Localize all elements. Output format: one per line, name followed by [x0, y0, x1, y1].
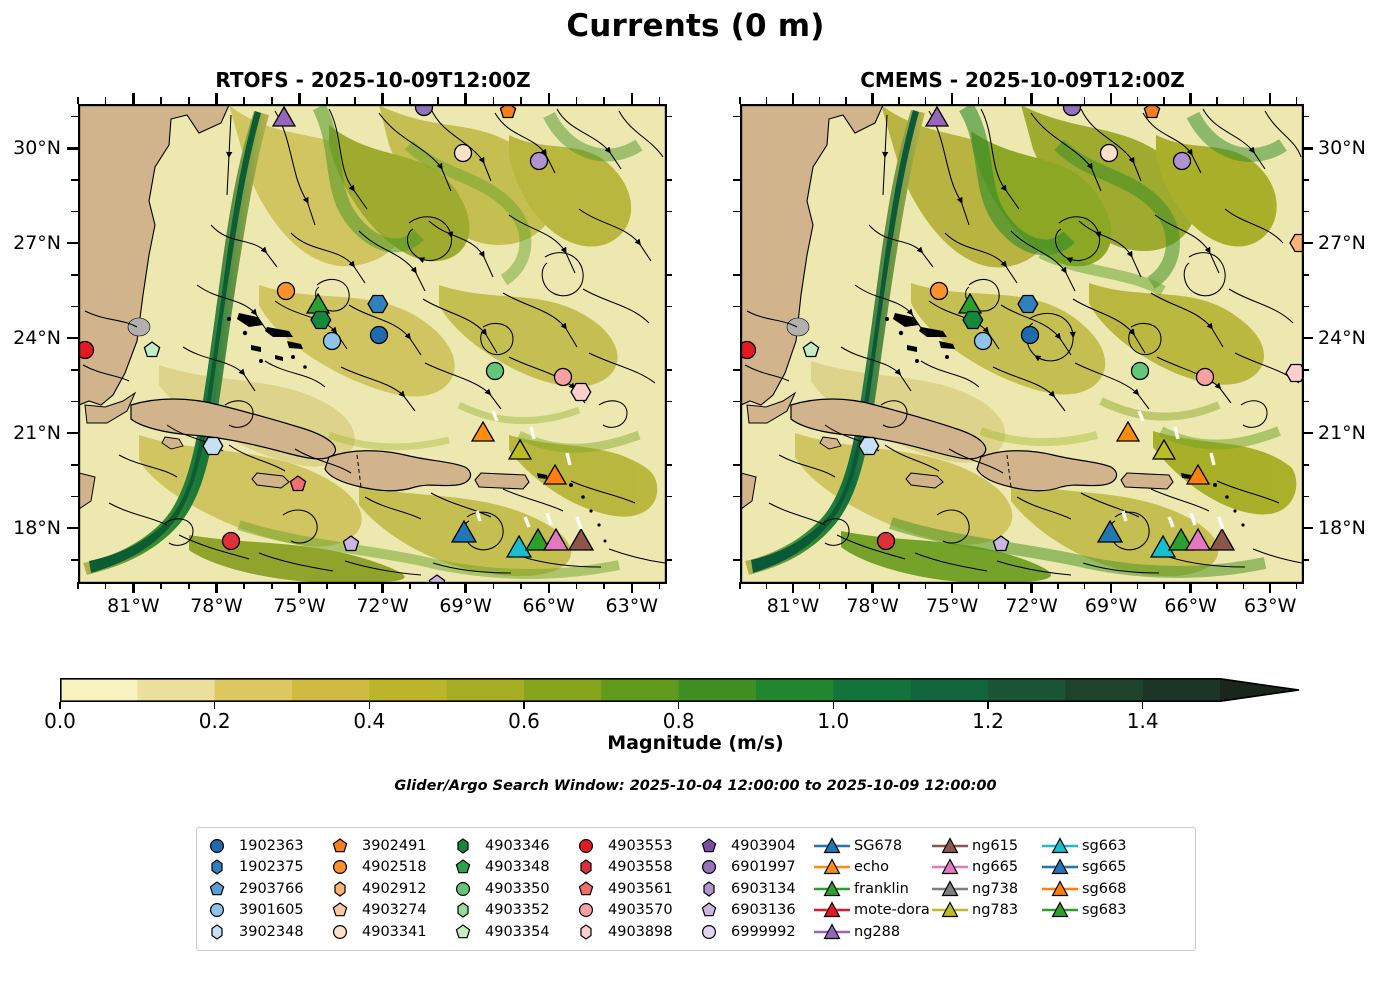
- hexagon-marker-icon: [197, 922, 237, 942]
- ytick-minor-right: [665, 496, 672, 498]
- hexagon-marker-icon: [689, 879, 729, 899]
- xtick-minor: [105, 582, 107, 589]
- legend-item-3901605[interactable]: 3901605: [197, 900, 320, 922]
- ytick-minor-right: [665, 369, 672, 371]
- ytick-minor-left: [71, 306, 78, 308]
- xtick-major: [792, 582, 794, 593]
- circle-marker-icon: [689, 857, 729, 877]
- legend-item-4903341[interactable]: 4903341: [320, 921, 443, 943]
- hexagon-swatch: [197, 857, 237, 877]
- xtick-minor-top: [326, 97, 328, 104]
- triangle-marker-icon: [812, 922, 852, 942]
- triangle-swatch: [930, 900, 970, 920]
- hexagon-swatch: [566, 857, 606, 877]
- legend-item-label: ng783: [970, 902, 1018, 918]
- colorbar-frame: [60, 678, 1300, 702]
- xtick-major-top: [871, 93, 873, 104]
- xtick-label: 72°W: [987, 595, 1077, 617]
- colorbar-tick: [678, 702, 679, 709]
- ytick-minor-left: [733, 116, 740, 118]
- pentagon-swatch: [443, 857, 483, 877]
- xtick-major-top: [1189, 93, 1191, 104]
- xtick-minor-top: [659, 97, 661, 104]
- xtick-minor-top: [1163, 97, 1165, 104]
- legend-item-label: sg668: [1080, 881, 1126, 897]
- ytick-label: 24°N: [1318, 327, 1366, 349]
- xtick-minor: [576, 582, 578, 589]
- xtick-minor: [978, 582, 980, 589]
- xtick-minor-top: [1243, 97, 1245, 104]
- triangle-marker-icon: [930, 879, 970, 899]
- ytick-label: 21°N: [1318, 422, 1366, 444]
- xtick-minor: [243, 582, 245, 589]
- legend-item-6999992[interactable]: 6999992: [689, 921, 812, 943]
- legend-item-label: 4903350: [483, 881, 550, 897]
- legend-column: 39024914902518490291249032744903341: [320, 835, 443, 950]
- ytick-minor-left: [71, 496, 78, 498]
- circle-swatch: [197, 900, 237, 920]
- xtick-minor-top: [437, 97, 439, 104]
- triangle-swatch: [1040, 857, 1080, 877]
- legend-item-label: 3902348: [237, 924, 304, 940]
- ytick-major: [67, 527, 78, 529]
- map-rtofs-canvas: [79, 105, 666, 583]
- legend-item-label: 3901605: [237, 902, 304, 918]
- xtick-minor: [819, 582, 821, 589]
- xtick-minor-top: [925, 97, 927, 104]
- xtick-minor: [925, 582, 927, 589]
- hexagon-swatch: [689, 879, 729, 899]
- xtick-major-top: [215, 93, 217, 104]
- ytick-minor-right: [1302, 274, 1309, 276]
- ytick-label: 27°N: [0, 232, 61, 254]
- legend-item-label: 4902912: [360, 881, 427, 897]
- xtick-minor-top: [898, 97, 900, 104]
- triangle-marker-icon: [812, 900, 852, 920]
- legend-item-3902491[interactable]: 3902491: [320, 835, 443, 857]
- ytick-major: [1302, 147, 1313, 149]
- triangle-marker-icon: [812, 836, 852, 856]
- legend-item-label: 4903570: [606, 902, 673, 918]
- xtick-major: [548, 582, 550, 593]
- xtick-minor-top: [1004, 97, 1006, 104]
- ytick-label: 21°N: [0, 422, 61, 444]
- xtick-minor: [1057, 582, 1059, 589]
- xtick-major: [381, 582, 383, 593]
- legend-item-label: sg663: [1080, 838, 1126, 854]
- colorbar-tick: [369, 702, 370, 709]
- xtick-major: [951, 582, 953, 593]
- xtick-minor: [520, 582, 522, 589]
- legend-item-label: 4903558: [606, 859, 673, 875]
- legend-item-ng288[interactable]: ng288: [812, 921, 930, 943]
- xtick-minor: [1243, 582, 1245, 589]
- pentagon-swatch: [320, 900, 360, 920]
- triangle-swatch: [812, 900, 852, 920]
- triangle-swatch: [812, 922, 852, 942]
- xtick-major: [298, 582, 300, 593]
- legend-item-4903274[interactable]: 4903274: [320, 900, 443, 922]
- colorbar-tick-label: 0.8: [639, 709, 719, 733]
- legend-item-4902518[interactable]: 4902518: [320, 857, 443, 879]
- legend-item-6903136[interactable]: 6903136: [689, 900, 812, 922]
- legend-item-label: 6903134: [729, 881, 796, 897]
- colorbar-tick: [987, 702, 988, 709]
- ytick-major: [1302, 242, 1313, 244]
- xtick-label: 69°W: [421, 595, 511, 617]
- triangle-marker-icon: [1040, 836, 1080, 856]
- colorbar-tick: [523, 702, 524, 709]
- xtick-major-top: [548, 93, 550, 104]
- ytick-minor-right: [665, 116, 672, 118]
- xtick-minor: [1163, 582, 1165, 589]
- legend-item-4903553[interactable]: 4903553: [566, 835, 689, 857]
- ytick-major: [1302, 432, 1313, 434]
- ytick-minor-right: [1302, 179, 1309, 181]
- triangle-marker-icon: [930, 900, 970, 920]
- xtick-minor: [409, 582, 411, 589]
- xtick-major-top: [951, 93, 953, 104]
- legend-item-mote-dora[interactable]: mote-dora: [812, 900, 930, 922]
- xtick-minor: [326, 582, 328, 589]
- hexagon-swatch: [197, 922, 237, 942]
- legend-item-sg668[interactable]: sg668: [1040, 878, 1150, 900]
- xtick-label: 63°W: [587, 595, 677, 617]
- triangle-swatch: [930, 879, 970, 899]
- xtick-major-top: [1110, 93, 1112, 104]
- pentagon-swatch: [689, 900, 729, 920]
- legend-item-franklin[interactable]: franklin: [812, 878, 930, 900]
- legend-item-label: mote-dora: [852, 902, 930, 918]
- hexagon-swatch: [320, 879, 360, 899]
- search-window-note: Glider/Argo Search Window: 2025-10-04 12…: [0, 778, 1391, 794]
- xtick-minor: [603, 582, 605, 589]
- hexagon-swatch: [443, 900, 483, 920]
- xtick-label: 69°W: [1066, 595, 1156, 617]
- ytick-minor-left: [71, 274, 78, 276]
- xtick-major: [1189, 582, 1191, 593]
- legend-item-4903558[interactable]: 4903558: [566, 857, 689, 879]
- map-cmems[interactable]: [740, 104, 1304, 584]
- legend-item-4903346[interactable]: 4903346: [443, 835, 566, 857]
- xtick-label: 75°W: [255, 595, 345, 617]
- triangle-swatch: [1040, 879, 1080, 899]
- legend-item-label: 4903898: [606, 924, 673, 940]
- colorbar-tick-label: 1.2: [948, 709, 1028, 733]
- xtick-minor-top: [739, 97, 741, 104]
- legend-item-label: 4903352: [483, 902, 550, 918]
- circle-swatch: [689, 857, 729, 877]
- legend-item-label: 4903904: [729, 838, 796, 854]
- xtick-label: 78°W: [828, 595, 918, 617]
- legend-item-sg665[interactable]: sg665: [1040, 857, 1150, 879]
- pentagon-marker-icon: [689, 900, 729, 920]
- xtick-major: [464, 582, 466, 593]
- ytick-minor-right: [1302, 496, 1309, 498]
- ytick-major: [67, 432, 78, 434]
- ytick-label: 30°N: [0, 137, 61, 159]
- legend-item-label: 1902363: [237, 838, 304, 854]
- legend-item-ng738[interactable]: ng738: [930, 878, 1040, 900]
- ytick-minor-left: [71, 369, 78, 371]
- pentagon-swatch: [197, 879, 237, 899]
- xtick-minor: [493, 582, 495, 589]
- pentagon-marker-icon: [443, 922, 483, 942]
- hexagon-marker-icon: [566, 922, 606, 942]
- xtick-minor-top: [1216, 97, 1218, 104]
- circle-marker-icon: [443, 879, 483, 899]
- hexagon-swatch: [443, 836, 483, 856]
- ytick-label: 18°N: [0, 517, 61, 539]
- circle-swatch: [197, 836, 237, 856]
- legend-item-4903352[interactable]: 4903352: [443, 900, 566, 922]
- pentagon-swatch: [566, 879, 606, 899]
- legend-item-4903570[interactable]: 4903570: [566, 900, 689, 922]
- pentagon-marker-icon: [443, 857, 483, 877]
- ytick-major: [67, 242, 78, 244]
- legend-item-4903904[interactable]: 4903904: [689, 835, 812, 857]
- circle-marker-icon: [197, 836, 237, 856]
- xtick-minor: [160, 582, 162, 589]
- legend-item-1902375[interactable]: 1902375: [197, 857, 320, 879]
- legend-item-label: 6903136: [729, 902, 796, 918]
- xtick-minor-top: [354, 97, 356, 104]
- xtick-minor: [354, 582, 356, 589]
- ytick-minor-left: [733, 559, 740, 561]
- triangle-swatch: [1040, 900, 1080, 920]
- xtick-minor-top: [1084, 97, 1086, 104]
- legend-item-label: franklin: [852, 881, 909, 897]
- xtick-major-top: [464, 93, 466, 104]
- ytick-minor-right: [1302, 369, 1309, 371]
- ytick-minor-right: [665, 464, 672, 466]
- circle-marker-icon: [320, 857, 360, 877]
- ytick-minor-right: [1302, 559, 1309, 561]
- ytick-minor-left: [733, 401, 740, 403]
- xtick-major-top: [631, 93, 633, 104]
- legend-item-ng783[interactable]: ng783: [930, 900, 1040, 922]
- circle-marker-icon: [197, 900, 237, 920]
- xtick-minor-top: [766, 97, 768, 104]
- legend-item-label: 4903561: [606, 881, 673, 897]
- colorbar-tick-label: 1.4: [1103, 709, 1183, 733]
- legend-item-3902348[interactable]: 3902348: [197, 921, 320, 943]
- xtick-label: 66°W: [504, 595, 594, 617]
- hexagon-marker-icon: [443, 900, 483, 920]
- xtick-minor: [1084, 582, 1086, 589]
- ytick-minor-right: [1302, 306, 1309, 308]
- xtick-major: [871, 582, 873, 593]
- legend-item-4903350[interactable]: 4903350: [443, 878, 566, 900]
- ytick-minor-right: [1302, 464, 1309, 466]
- legend-item-4903561[interactable]: 4903561: [566, 878, 689, 900]
- ytick-minor-left: [71, 116, 78, 118]
- ytick-minor-right: [665, 179, 672, 181]
- legend-item-label: ng665: [970, 859, 1018, 875]
- pentagon-marker-icon: [320, 836, 360, 856]
- xtick-minor: [1296, 582, 1298, 589]
- xtick-minor: [766, 582, 768, 589]
- legend-item-label: sg665: [1080, 859, 1126, 875]
- xtick-minor-top: [576, 97, 578, 104]
- triangle-marker-icon: [812, 857, 852, 877]
- xtick-minor-top: [493, 97, 495, 104]
- legend-item-label: 4903553: [606, 838, 673, 854]
- ytick-minor-left: [71, 211, 78, 213]
- xtick-label: 75°W: [907, 595, 997, 617]
- legend-item-4903898[interactable]: 4903898: [566, 921, 689, 943]
- xtick-minor-top: [271, 97, 273, 104]
- triangle-swatch: [812, 857, 852, 877]
- ytick-minor-left: [733, 274, 740, 276]
- xtick-minor-top: [160, 97, 162, 104]
- legend-item-label: 4902518: [360, 859, 427, 875]
- ytick-minor-left: [733, 496, 740, 498]
- map-rtofs[interactable]: [78, 104, 667, 584]
- map-cmems-canvas: [741, 105, 1303, 583]
- xtick-minor: [739, 582, 741, 589]
- xtick-minor-top: [1057, 97, 1059, 104]
- xtick-minor-top: [1137, 97, 1139, 104]
- colorbar-tick: [59, 702, 60, 709]
- xtick-minor: [898, 582, 900, 589]
- legend-item-ng665[interactable]: ng665: [930, 857, 1040, 879]
- xtick-major: [1030, 582, 1032, 593]
- legend-item-4902912[interactable]: 4902912: [320, 878, 443, 900]
- pentagon-marker-icon: [566, 879, 606, 899]
- pentagon-marker-icon: [320, 900, 360, 920]
- legend-item-label: 4903346: [483, 838, 550, 854]
- legend-item-label: SG678: [852, 838, 902, 854]
- legend-item-6903134[interactable]: 6903134: [689, 878, 812, 900]
- xtick-minor-top: [819, 97, 821, 104]
- ytick-major: [67, 147, 78, 149]
- legend-column: SG678echofranklinmote-dorang288: [812, 835, 930, 950]
- legend-item-label: 6999992: [729, 924, 796, 940]
- legend-item-label: ng288: [852, 924, 900, 940]
- xtick-major-top: [1030, 93, 1032, 104]
- hexagon-marker-icon: [443, 836, 483, 856]
- legend-column: 49039046901997690313469031366999992: [689, 835, 812, 950]
- triangle-swatch: [812, 879, 852, 899]
- xtick-minor: [1137, 582, 1139, 589]
- legend-item-label: sg683: [1080, 902, 1126, 918]
- xtick-major: [215, 582, 217, 593]
- xtick-label: 72°W: [338, 595, 428, 617]
- triangle-marker-icon: [1040, 900, 1080, 920]
- xtick-label: 66°W: [1146, 595, 1236, 617]
- legend-item-ng615[interactable]: ng615: [930, 835, 1040, 857]
- xtick-minor: [1216, 582, 1218, 589]
- circle-swatch: [320, 857, 360, 877]
- colorbar-tick: [214, 702, 215, 709]
- legend-item-2903766[interactable]: 2903766: [197, 878, 320, 900]
- triangle-swatch: [1040, 836, 1080, 856]
- legend-item-label: 4903274: [360, 902, 427, 918]
- xtick-minor: [271, 582, 273, 589]
- circle-swatch: [689, 922, 729, 942]
- circle-marker-icon: [566, 836, 606, 856]
- legend-item-sg683[interactable]: sg683: [1040, 900, 1150, 922]
- legend-item-sg663[interactable]: sg663: [1040, 835, 1150, 857]
- ytick-minor-right: [665, 306, 672, 308]
- ytick-minor-right: [1302, 116, 1309, 118]
- legend-item-label: 3902491: [360, 838, 427, 854]
- xtick-minor-top: [105, 97, 107, 104]
- ytick-major: [1302, 527, 1313, 529]
- legend-column: sg663sg665sg668sg683: [1040, 835, 1150, 950]
- legend-item-label: 4903341: [360, 924, 427, 940]
- circle-swatch: [566, 836, 606, 856]
- legend-item-label: ng738: [970, 881, 1018, 897]
- xtick-minor: [188, 582, 190, 589]
- xtick-label: 63°W: [1225, 595, 1315, 617]
- xtick-major: [1110, 582, 1112, 593]
- ytick-minor-left: [733, 369, 740, 371]
- ytick-minor-left: [733, 179, 740, 181]
- ytick-minor-right: [665, 274, 672, 276]
- ytick-label: 27°N: [1318, 232, 1366, 254]
- legend-item-4903354[interactable]: 4903354: [443, 921, 566, 943]
- xtick-minor: [845, 582, 847, 589]
- circle-marker-icon: [566, 900, 606, 920]
- page-title: Currents (0 m): [0, 8, 1391, 44]
- xtick-major-top: [298, 93, 300, 104]
- legend-item-label: 4903354: [483, 924, 550, 940]
- legend-item-label: 6901997: [729, 859, 796, 875]
- ytick-minor-left: [733, 306, 740, 308]
- ytick-minor-right: [1302, 211, 1309, 213]
- circle-swatch: [566, 900, 606, 920]
- triangle-marker-icon: [930, 857, 970, 877]
- triangle-marker-icon: [812, 879, 852, 899]
- hexagon-marker-icon: [197, 857, 237, 877]
- panel-cmems-title: CMEMS - 2025-10-09T12:00Z: [740, 68, 1305, 92]
- xtick-minor: [1004, 582, 1006, 589]
- legend-column: ng615ng665ng738ng783: [930, 835, 1040, 950]
- legend-column: 49035534903558490356149035704903898: [566, 835, 689, 950]
- xtick-minor-top: [845, 97, 847, 104]
- ytick-minor-right: [665, 211, 672, 213]
- xtick-minor-top: [409, 97, 411, 104]
- triangle-marker-icon: [1040, 879, 1080, 899]
- ytick-minor-left: [733, 211, 740, 213]
- legend-item-4903348[interactable]: 4903348: [443, 857, 566, 879]
- xtick-label: 81°W: [748, 595, 838, 617]
- triangle-swatch: [930, 836, 970, 856]
- xtick-minor: [77, 582, 79, 589]
- colorbar-tick-label: 0.0: [20, 709, 100, 733]
- xtick-minor-top: [603, 97, 605, 104]
- legend-item-6901997[interactable]: 6901997: [689, 857, 812, 879]
- legend[interactable]: 1902363190237529037663901605390234839024…: [196, 827, 1196, 951]
- colorbar-tick-label: 0.4: [329, 709, 409, 733]
- legend-item-1902363[interactable]: 1902363: [197, 835, 320, 857]
- colorbar-tick: [833, 702, 834, 709]
- ytick-label: 30°N: [1318, 137, 1366, 159]
- pentagon-marker-icon: [689, 836, 729, 856]
- pentagon-swatch: [320, 836, 360, 856]
- ytick-minor-right: [665, 559, 672, 561]
- xtick-label: 78°W: [171, 595, 261, 617]
- legend-item-SG678[interactable]: SG678: [812, 835, 930, 857]
- legend-item-echo[interactable]: echo: [812, 857, 930, 879]
- ytick-minor-left: [71, 559, 78, 561]
- legend-item-label: 1902375: [237, 859, 304, 875]
- xtick-minor-top: [978, 97, 980, 104]
- xtick-major-top: [792, 93, 794, 104]
- triangle-marker-icon: [930, 836, 970, 856]
